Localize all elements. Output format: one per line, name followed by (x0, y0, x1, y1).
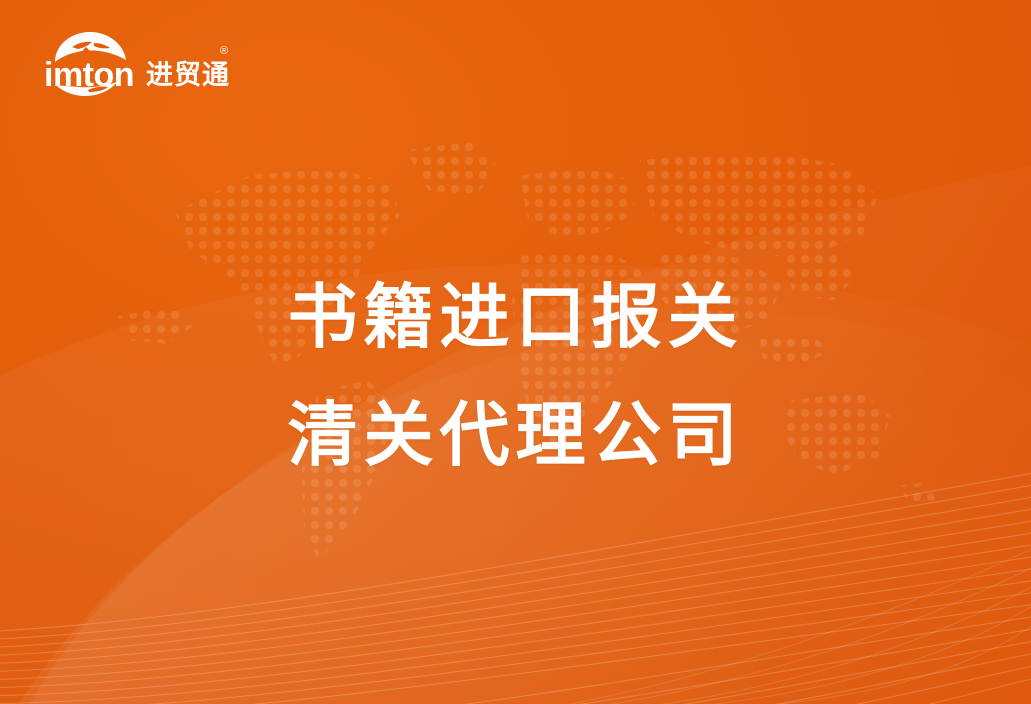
logo-wordmark: imton (44, 56, 134, 94)
headline-line-2: 清关代理公司 (0, 376, 1031, 494)
promo-banner: imton 进贸通 ® 书籍进口报关 清关代理公司 (0, 0, 1031, 704)
headline: 书籍进口报关 清关代理公司 (0, 258, 1031, 494)
logo-trademark-symbol: ® (220, 45, 228, 57)
brand-logo[interactable]: imton 进贸通 ® (42, 28, 232, 102)
logo-chinese-name: 进贸通 (146, 60, 230, 90)
headline-line-1: 书籍进口报关 (0, 258, 1031, 376)
